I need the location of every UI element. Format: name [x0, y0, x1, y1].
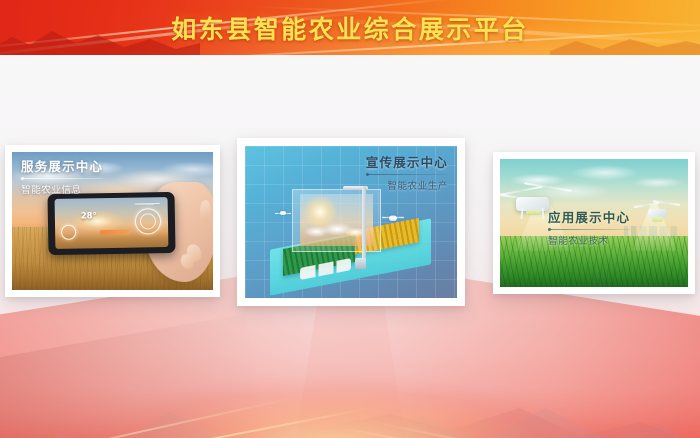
- caption-divider: [548, 229, 630, 230]
- drone-tank: [526, 210, 541, 215]
- spraying-drone-small-icon: [634, 197, 683, 225]
- smartphone-screen: 28°: [55, 198, 169, 250]
- glass-greenhouse: [292, 189, 381, 253]
- lamp-post-base: [355, 258, 366, 269]
- lamp-post: [362, 186, 366, 262]
- card-promotion-photo: 宣传展示中心 智能农业生产: [245, 146, 457, 298]
- card-application-title: 应用展示中心: [548, 211, 630, 225]
- card-service-title: 服务展示中心: [21, 160, 103, 174]
- card-promotion-caption: 宣传展示中心 智能农业生产: [366, 156, 448, 192]
- card-promotion-display-center[interactable]: 宣传展示中心 智能农业生产: [237, 138, 465, 306]
- screen-temperature-readout: 28°: [81, 212, 97, 222]
- card-service-caption: 服务展示中心 智能农业信息: [21, 160, 103, 196]
- card-promotion-subtitle: 智能农业生产: [366, 178, 448, 192]
- page-title: 如东县智能农业综合展示平台: [0, 0, 700, 55]
- card-service-display-center[interactable]: 28° 服务展示中心 智能农业信息: [5, 145, 220, 297]
- card-application-display-center[interactable]: 应用展示中心 智能农业技术: [493, 152, 695, 294]
- rotor: [634, 202, 659, 208]
- drone-icon: [275, 210, 291, 217]
- drone-leg: [520, 208, 523, 219]
- card-application-subtitle: 智能农业技术: [548, 233, 630, 247]
- greenhouse-clouds: [301, 222, 371, 238]
- finger: [200, 200, 211, 222]
- app-stage: 如东县智能农业综合展示平台 28°: [0, 0, 700, 438]
- smartphone-device: 28°: [48, 192, 176, 255]
- card-application-photo: 应用展示中心 智能农业技术: [500, 159, 688, 287]
- drone-tank: [652, 217, 663, 222]
- screen-indicator-bar: [100, 230, 129, 235]
- card-application-caption: 应用展示中心 智能农业技术: [548, 211, 630, 247]
- card-promotion-title: 宣传展示中心: [366, 156, 448, 170]
- mountain-layer-near: [0, 406, 700, 438]
- caption-divider: [21, 178, 103, 179]
- drone-icon: [382, 213, 404, 222]
- card-service-photo: 28° 服务展示中心 智能农业信息: [12, 152, 213, 290]
- header-banner: 如东县智能农业综合展示平台: [0, 0, 700, 55]
- ar-dial-icon: [61, 225, 76, 240]
- caption-divider: [366, 174, 448, 175]
- card-service-subtitle: 智能农业信息: [21, 182, 103, 196]
- ar-target-icon: [135, 209, 161, 235]
